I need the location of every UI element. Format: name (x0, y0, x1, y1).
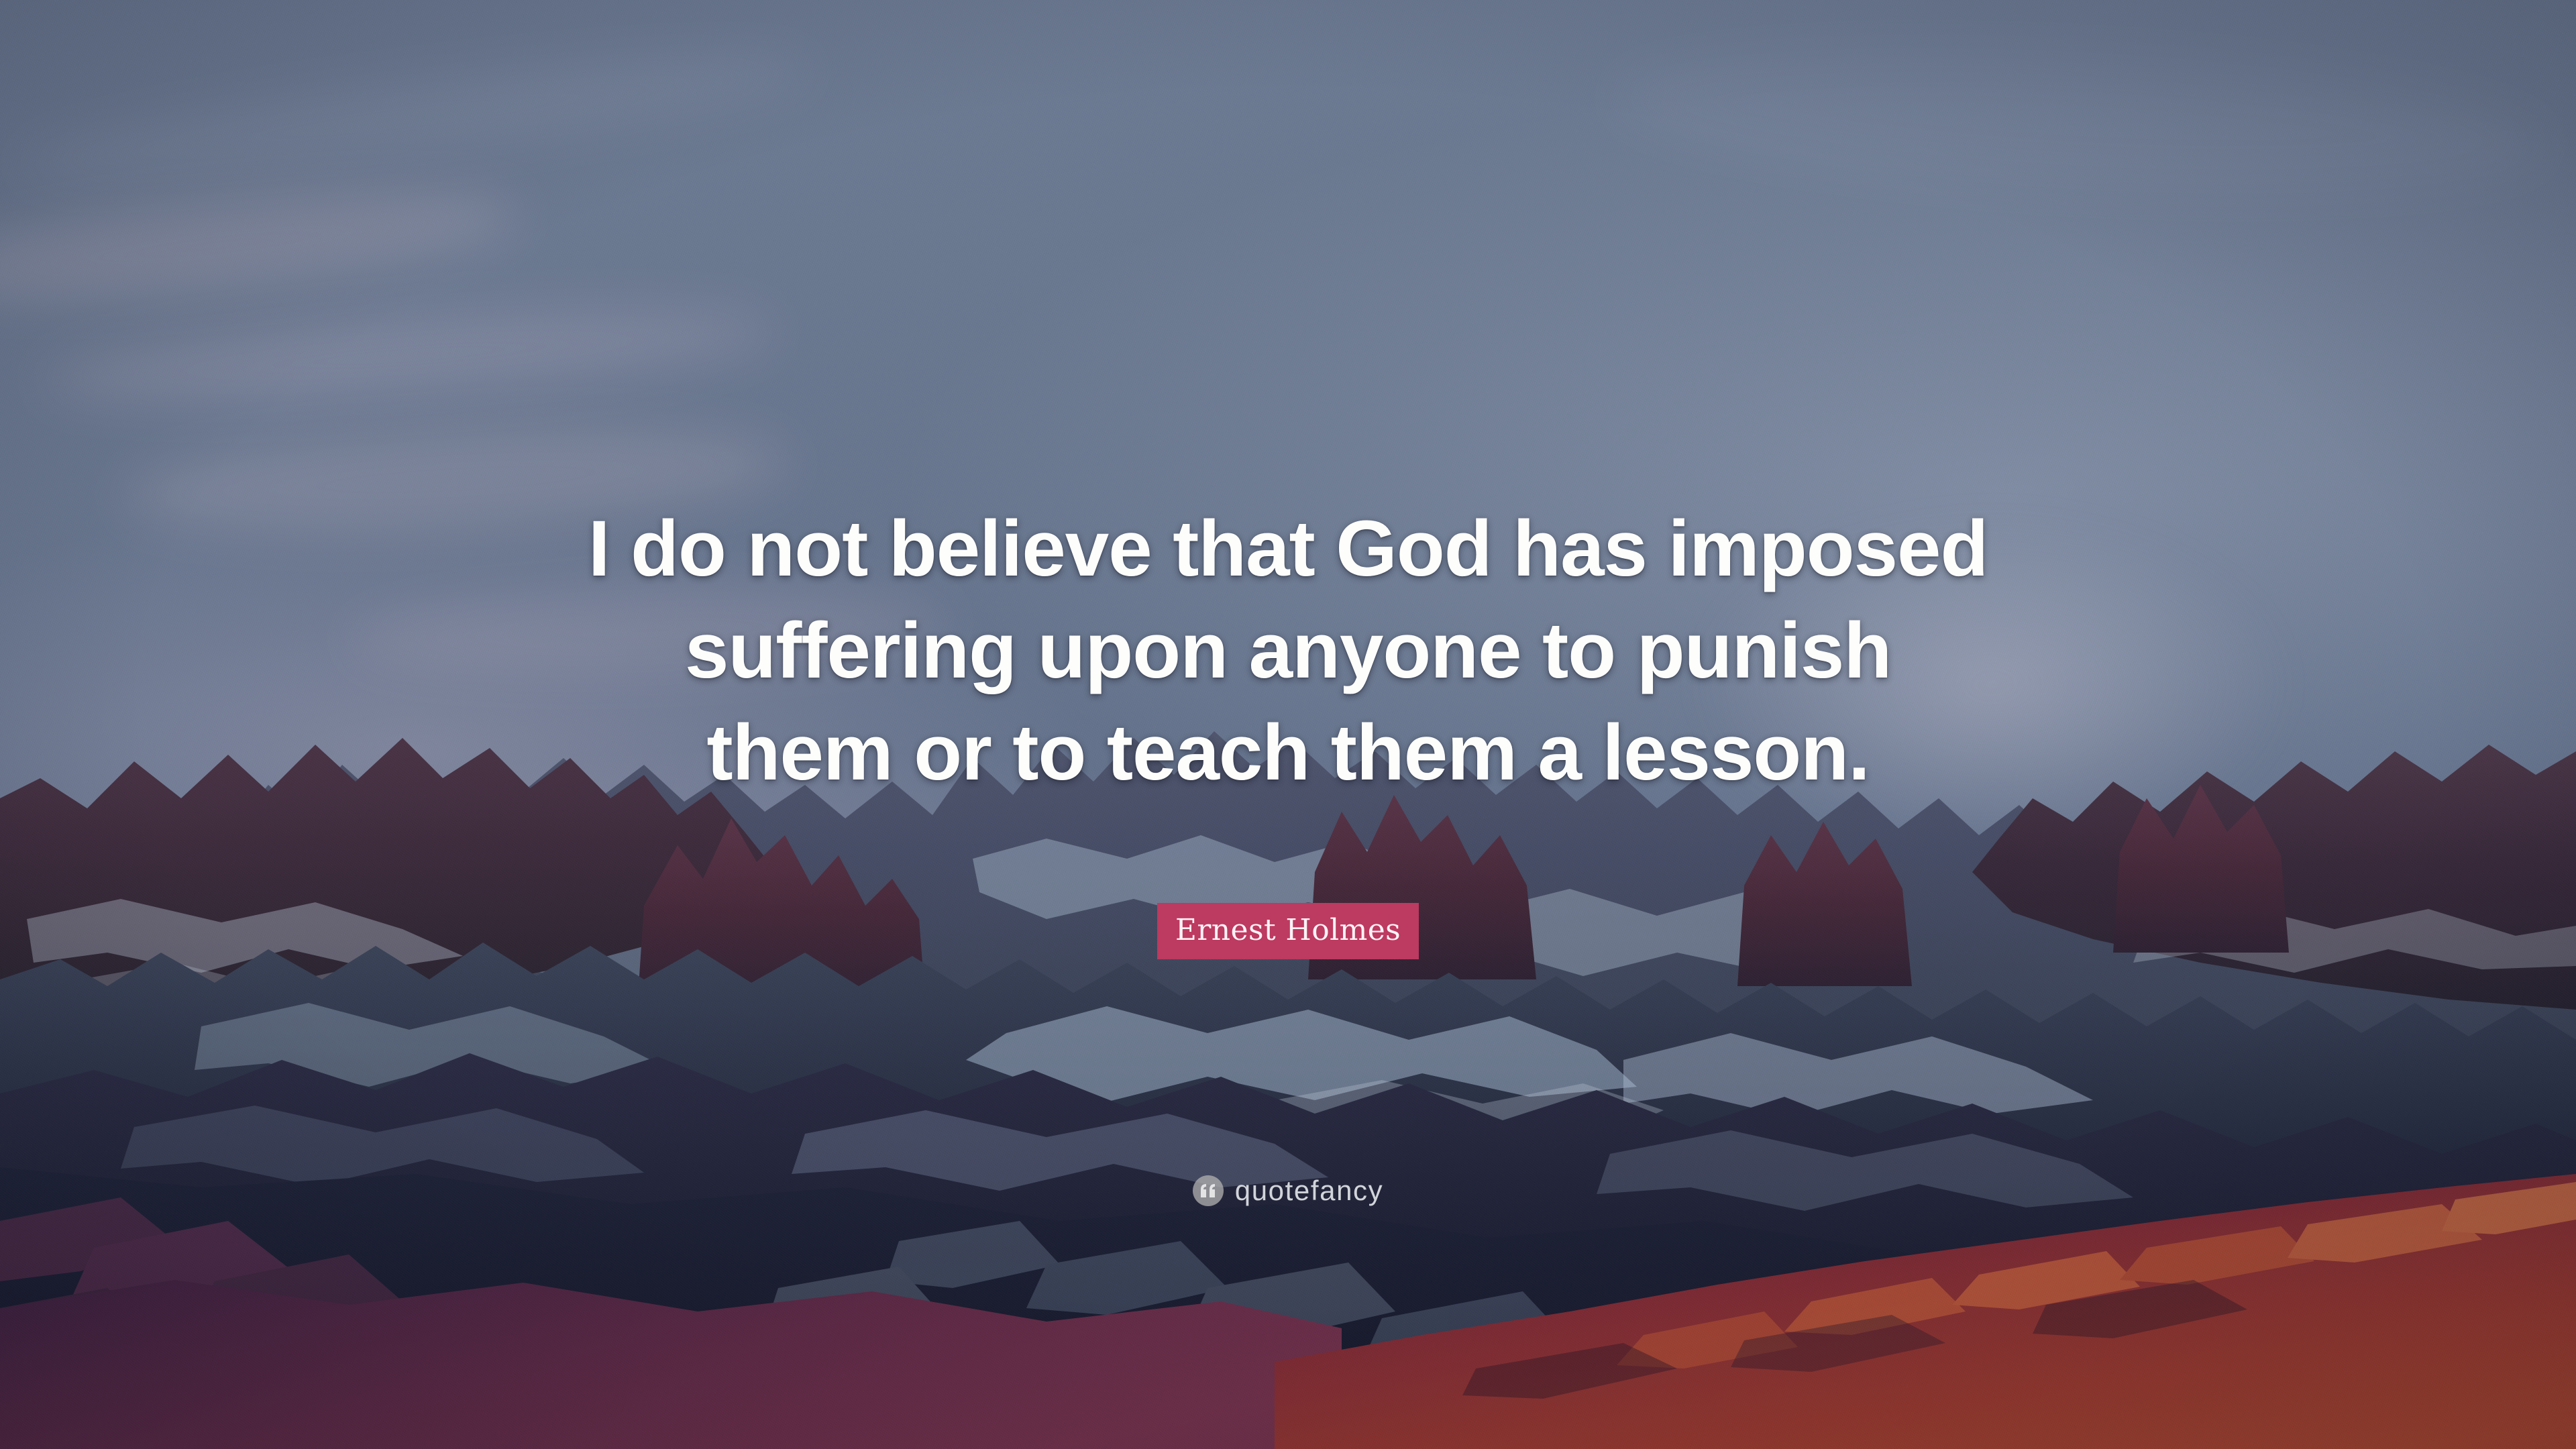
author-name-badge[interactable]: Ernest Holmes (1157, 903, 1419, 959)
quote-line-3: them or to teach them a lesson. (0, 702, 2576, 804)
foothills-alpenglow (0, 1167, 2576, 1449)
quote-line-1: I do not believe that God has imposed (0, 498, 2576, 600)
quote-line-2: suffering upon anyone to punish (0, 600, 2576, 702)
quote-text: I do not believe that God has imposed su… (0, 498, 2576, 804)
quotefancy-wordmark: quotefancy (1235, 1177, 1384, 1205)
quote-mark-icon (1193, 1175, 1224, 1206)
author-attribution: Ernest Holmes (0, 903, 2576, 959)
quotefancy-watermark[interactable]: quotefancy (0, 1175, 2576, 1206)
quote-poster: I do not believe that God has imposed su… (0, 0, 2576, 1449)
